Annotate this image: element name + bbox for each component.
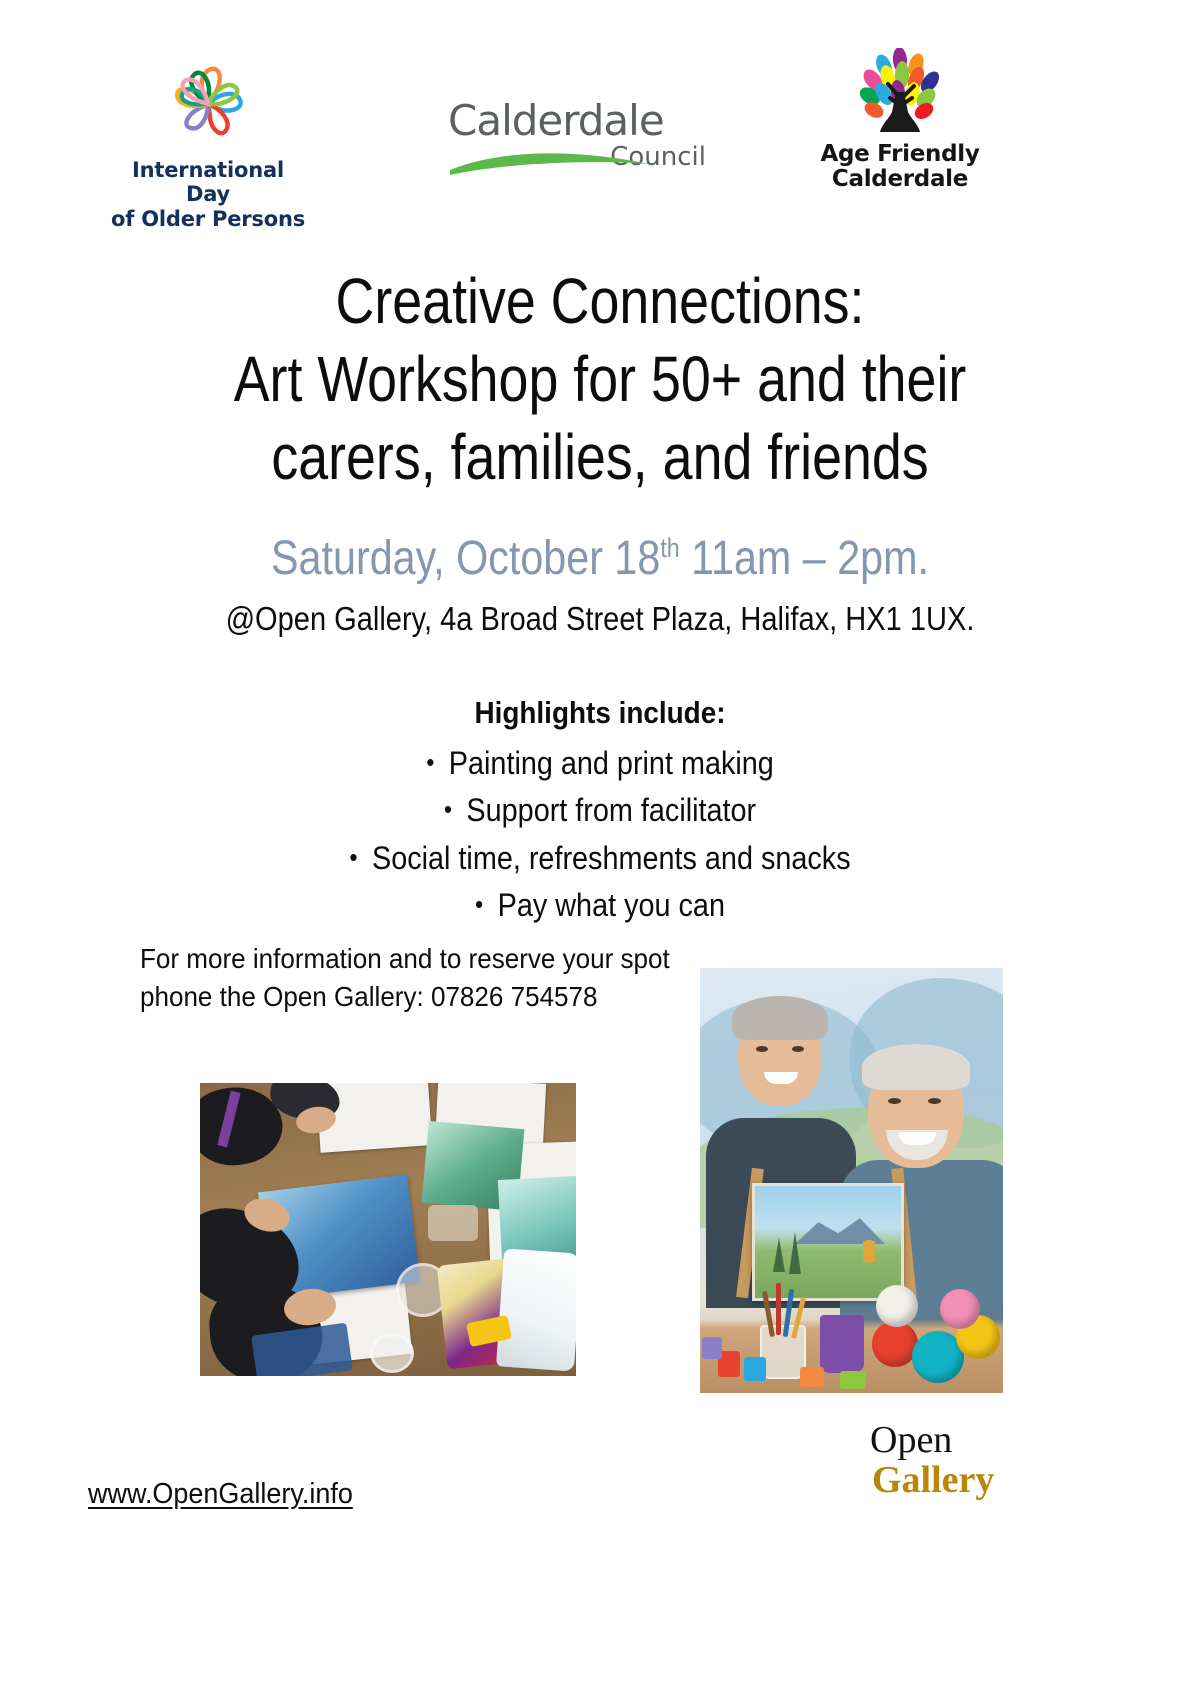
photo-craft-ball: [876, 1285, 918, 1327]
list-item: Support from facilitator: [114, 787, 1086, 834]
logo-calderdale-council: Calderdale Council: [448, 100, 708, 170]
event-address: @Open Gallery, 4a Broad Street Plaza, Ha…: [125, 600, 1075, 638]
list-item: Pay what you can: [114, 882, 1086, 929]
age-friendly-logo-text: Age Friendly Calderdale: [800, 142, 1000, 193]
photo-paint-pot: [820, 1315, 864, 1373]
photo-person-eye: [792, 1046, 804, 1052]
photo-craft-ball: [872, 1321, 918, 1367]
printmaking-workshop-photo: [200, 1083, 576, 1376]
contact-info: For more information and to reserve your…: [140, 940, 717, 1015]
highlights-heading: Highlights include:: [114, 695, 1086, 731]
photo-person-eye: [888, 1098, 901, 1104]
photo-paint-pot: [744, 1357, 766, 1381]
poster-title: Creative Connections: Art Workshop for 5…: [146, 262, 1053, 496]
calderdale-wordmark: Calderdale: [448, 100, 708, 142]
open-gallery-logo-gallery: Gallery: [872, 1460, 1090, 1500]
idop-flower-icon: [160, 56, 256, 152]
title-line-1: Creative Connections:: [146, 262, 1053, 340]
photo-paintbrush: [776, 1283, 781, 1335]
photo-paint-pot: [800, 1367, 824, 1387]
event-time: 11am – 2pm.: [680, 532, 929, 585]
photo-landscape-painting: [752, 1183, 904, 1301]
photo-jar: [370, 1333, 414, 1373]
photo-painting-tree: [773, 1238, 785, 1272]
open-gallery-logo-open: Open: [870, 1420, 1090, 1460]
calderdale-wave-icon: [450, 146, 650, 176]
highlights-list: Painting and print making Support from f…: [60, 740, 1140, 929]
photo-craft-ball: [940, 1289, 980, 1329]
two-men-with-painting-photo: [700, 968, 1003, 1393]
title-line-2: Art Workshop for 50+ and their: [146, 340, 1053, 418]
list-item: Painting and print making: [114, 740, 1086, 787]
photo-paint-pot: [840, 1371, 866, 1389]
photo-bubble-wrap: [428, 1205, 478, 1241]
logo-international-day-of-older-persons: International Day of Older Persons: [108, 56, 308, 231]
contact-line-1: For more information and to reserve your…: [140, 940, 717, 978]
title-line-3: carers, families, and friends: [146, 418, 1053, 496]
logo-bar: International Day of Older Persons Calde…: [0, 48, 1200, 208]
photo-person-eye: [928, 1098, 941, 1104]
event-date-prefix: Saturday, October 18: [271, 532, 660, 585]
photo-supply-bag: [496, 1248, 576, 1371]
photo-painting-tree: [863, 1236, 875, 1270]
list-item: Social time, refreshments and snacks: [114, 835, 1086, 882]
photo-person-hair: [732, 996, 828, 1040]
photo-paint-pot: [702, 1337, 722, 1359]
website-link[interactable]: www.OpenGallery.info: [88, 1478, 353, 1511]
event-datetime: Saturday, October 18th 11am – 2pm.: [136, 530, 1065, 588]
event-date-ordinal: th: [660, 533, 679, 563]
logo-age-friendly-calderdale: Age Friendly Calderdale: [800, 48, 1000, 193]
open-gallery-logo: Open Gallery: [870, 1420, 1090, 1501]
photo-painting-mountains: [795, 1216, 885, 1244]
photo-person-eye: [756, 1046, 768, 1052]
photo-painting-tree: [789, 1232, 801, 1274]
photo-person-hair: [862, 1044, 970, 1090]
idop-logo-text: International Day of Older Persons: [108, 158, 308, 231]
contact-line-2: phone the Open Gallery: 07826 754578: [140, 978, 717, 1016]
age-friendly-tree-icon: [840, 48, 960, 140]
